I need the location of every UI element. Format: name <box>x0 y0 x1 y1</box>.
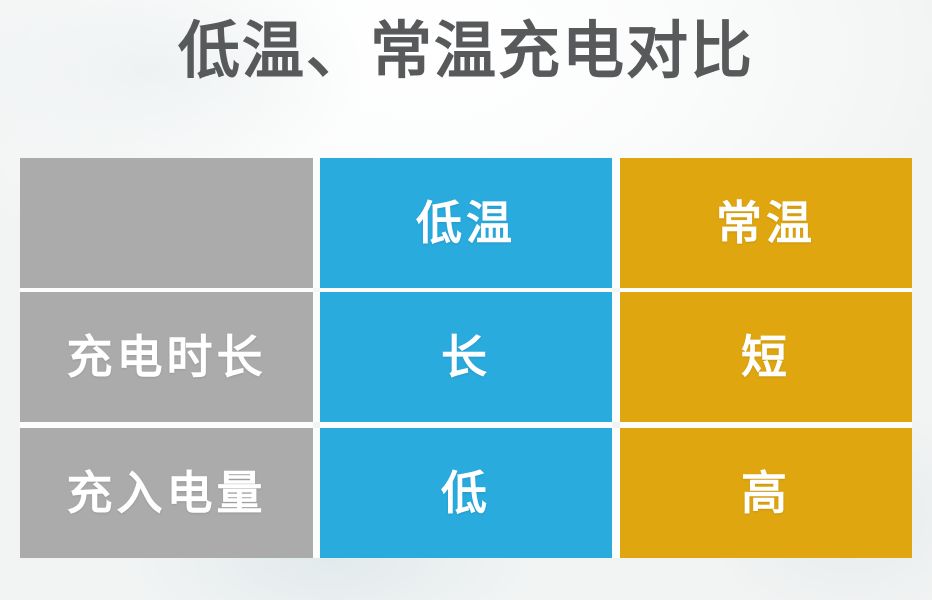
header-normal-temp: 常温 <box>620 158 912 288</box>
column-gap-6 <box>612 428 620 558</box>
value-charge-capacity-low-temp: 低 <box>320 428 612 558</box>
column-gap-5 <box>313 428 320 558</box>
value-charge-duration-normal-temp: 短 <box>620 292 912 422</box>
row-label-charge-duration: 充电时长 <box>20 292 313 422</box>
column-gap-3 <box>313 292 320 422</box>
comparison-table: 低温 常温 充电时长 长 短 充入电量 低 高 <box>20 158 912 558</box>
value-charge-capacity-normal-temp: 高 <box>620 428 912 558</box>
value-charge-duration-low-temp: 长 <box>320 292 612 422</box>
row-label-charge-capacity: 充入电量 <box>20 428 313 558</box>
page-title: 低温、常温充电对比 <box>0 20 932 82</box>
header-low-temp: 低温 <box>320 158 612 288</box>
column-gap-4 <box>612 292 620 422</box>
column-gap-2 <box>612 158 620 288</box>
table-corner-cell <box>20 158 313 288</box>
column-gap-1 <box>313 158 320 288</box>
comparison-infographic: 低温、常温充电对比 低温 常温 充电时长 长 短 充入电量 低 高 <box>0 0 932 600</box>
